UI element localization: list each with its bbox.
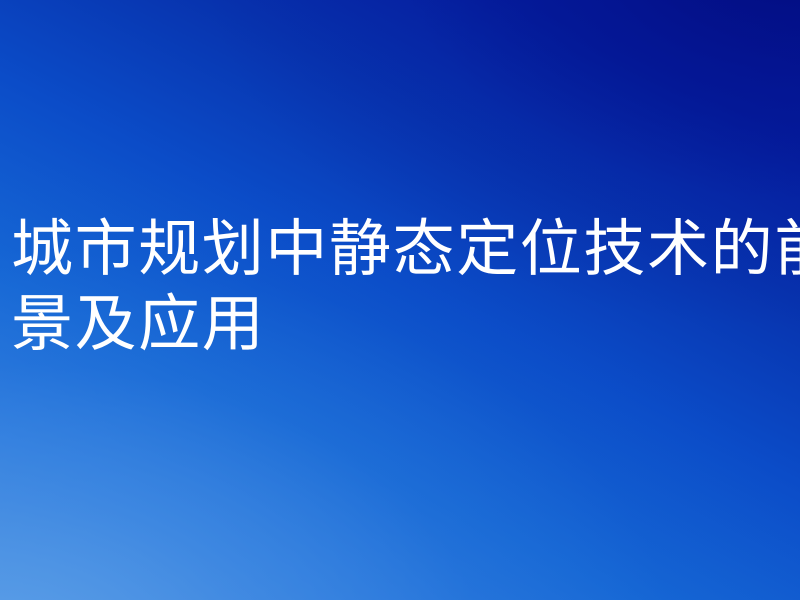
banner-title: 城市规划中静态定位技术的前 景及应用 <box>11 212 800 362</box>
cover-banner: 城市规划中静态定位技术的前 景及应用 <box>0 0 800 600</box>
banner-title-line-2: 景及应用 <box>11 287 800 362</box>
banner-title-line-1: 城市规划中静态定位技术的前 <box>11 212 800 287</box>
